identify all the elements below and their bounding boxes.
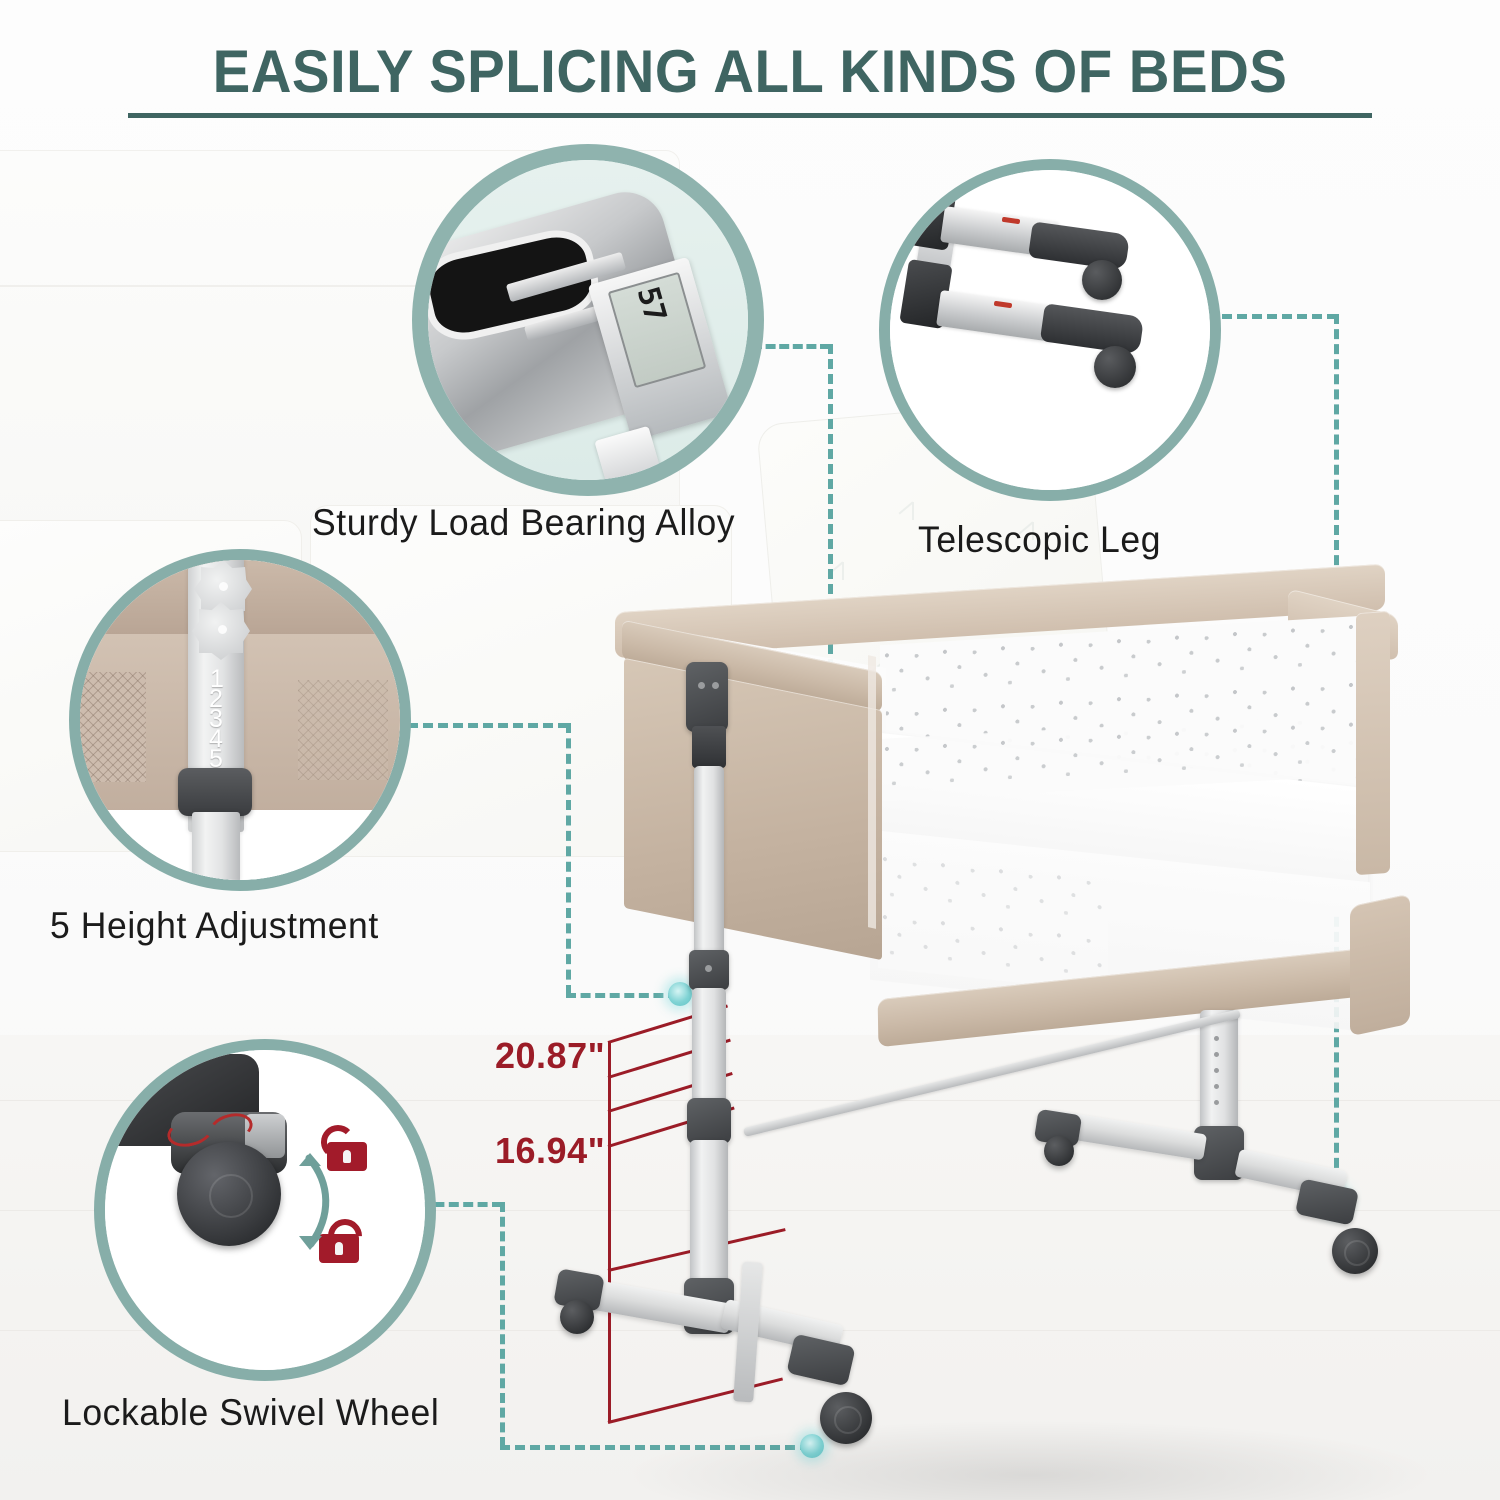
connector-dash xyxy=(500,1202,505,1447)
feature-circle-telescopic-leg xyxy=(890,170,1210,490)
leg-lower-tube-left xyxy=(690,1140,728,1286)
bassinet-front-mesh-pattern xyxy=(878,848,1108,992)
height-adjust-post-lower xyxy=(192,812,240,880)
connector-dash xyxy=(420,1202,502,1207)
feature-circle-lockable-swivel-wheel xyxy=(105,1050,425,1370)
leg-upper-tube-right xyxy=(1200,1010,1238,1132)
measure-label-lower: 16.94" xyxy=(495,1130,605,1172)
connector-dash xyxy=(566,993,678,998)
knob-center-dot xyxy=(218,625,227,634)
height-pin-hole xyxy=(1214,1084,1219,1089)
feature-label-sturdy-load-bearing-alloy: Sturdy Load Bearing Alloy xyxy=(312,502,735,544)
wheel-hub-ring xyxy=(209,1174,253,1218)
height-pin-hole xyxy=(1214,1100,1219,1105)
post-locking-collar xyxy=(178,768,252,816)
joint-pinhole xyxy=(705,965,712,972)
mesh-window-right xyxy=(298,680,388,780)
leaf-pattern-icon xyxy=(830,560,856,586)
bassinet-right-edge-rail xyxy=(1350,894,1410,1037)
feature-label-telescopic-leg: Telescopic Leg xyxy=(918,519,1161,561)
title-underline xyxy=(128,113,1372,118)
product-shadow xyxy=(620,1420,1440,1500)
feature-circle-sturdy-load-bearing-alloy: 57 xyxy=(428,160,748,480)
leg-clamp-left xyxy=(692,726,726,768)
circle-photo-background: 57 xyxy=(428,160,748,480)
height-pin-hole xyxy=(1214,1052,1219,1057)
infographic-canvas: EASILY SPLICING ALL KINDS OF BEDS 20.87"… xyxy=(0,0,1500,1500)
circle-photo-background: 1 2 3 4 5 xyxy=(80,560,400,880)
leg-top-joint-left xyxy=(686,662,728,732)
height-pin-hole xyxy=(1214,1036,1219,1041)
leg-lower-joint-left xyxy=(687,1098,731,1144)
bassinet-zipper xyxy=(868,655,876,929)
bassinet-side-panel xyxy=(624,658,882,960)
caliper-handle xyxy=(594,426,669,480)
connector-dash xyxy=(1222,314,1337,319)
feature-label-height-adjustment: 5 Height Adjustment xyxy=(50,905,379,947)
circle-photo-background xyxy=(105,1050,425,1370)
measure-label-upper: 20.87" xyxy=(495,1035,605,1077)
bassinet-right-post-sleeve xyxy=(1356,611,1390,875)
telescopic-end-cap-bottom xyxy=(1040,303,1144,355)
circle-photo-background xyxy=(890,170,1210,490)
knob-center-dot xyxy=(219,582,228,591)
joint-pinhole xyxy=(698,682,705,689)
connector-dash xyxy=(408,723,568,728)
caster-hub-ring xyxy=(1344,1240,1370,1266)
telescopic-inner-arm-bottom xyxy=(936,290,1058,342)
connector-dash xyxy=(566,723,571,995)
telescopic-caster-bottom xyxy=(1094,346,1136,388)
caster-rear-left xyxy=(560,1300,594,1334)
leg-mid-tube-left xyxy=(692,988,726,1104)
connector-dash xyxy=(752,344,830,349)
height-pin-hole xyxy=(1214,1068,1219,1073)
feature-label-lockable-swivel-wheel: Lockable Swivel Wheel xyxy=(62,1392,439,1434)
caster-rear-right xyxy=(1044,1136,1074,1166)
telescopic-end-cap-top xyxy=(1028,221,1130,270)
leg-upper-tube-left xyxy=(694,766,724,962)
lock-toggle-double-arrow-icon xyxy=(291,1136,351,1266)
telescopic-caster-top xyxy=(1082,260,1122,300)
page-title: EASILY SPLICING ALL KINDS OF BEDS xyxy=(0,42,1500,102)
feature-circle-height-adjustment: 1 2 3 4 5 xyxy=(80,560,400,880)
page-title-text: EASILY SPLICING ALL KINDS OF BEDS xyxy=(45,42,1455,102)
measure-vertical-line xyxy=(608,1042,611,1422)
mesh-window-left xyxy=(80,672,146,782)
caster-hub-ring xyxy=(834,1406,862,1434)
joint-pinhole xyxy=(712,682,719,689)
